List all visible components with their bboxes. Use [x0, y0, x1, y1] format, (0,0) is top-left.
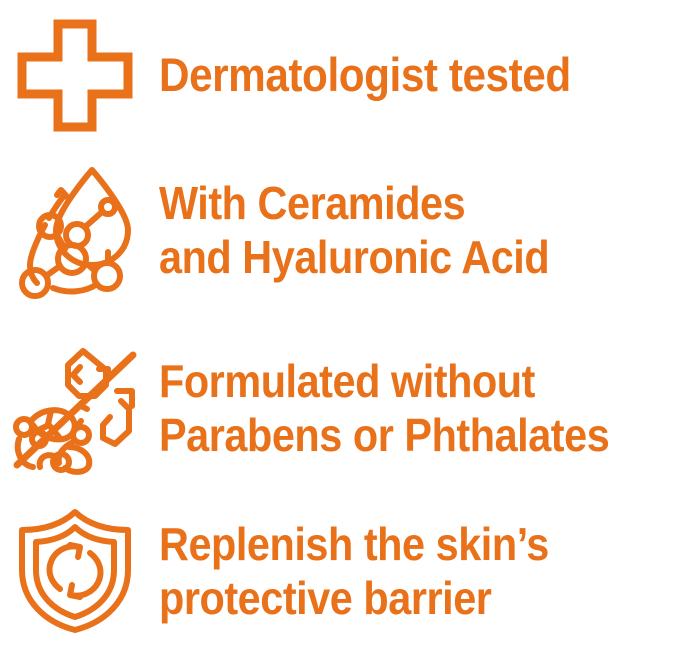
droplet-molecule-icon — [0, 164, 150, 296]
benefit-text-dermatologist-tested: Dermatologist tested — [150, 48, 626, 102]
benefit-row-ceramides-hyaluronic-acid: With Ceramides and Hyaluronic Acid — [0, 150, 679, 310]
shield-renew-icon — [0, 508, 150, 634]
benefit-text-ceramides-hyaluronic-acid: With Ceramides and Hyaluronic Acid — [150, 176, 626, 284]
benefit-row-no-parabens-phthalates: Formulated without Parabens or Phthalate… — [0, 330, 679, 485]
benefit-line: With Ceramides — [159, 176, 626, 230]
medical-cross-icon — [0, 19, 150, 132]
benefit-line: Formulated without — [159, 354, 626, 408]
benefit-line: Parabens or Phthalates — [159, 408, 626, 462]
benefit-line: protective barrier — [159, 571, 626, 625]
benefit-text-replenish-skin-barrier: Replenish the skin’s protective barrier — [150, 517, 626, 625]
no-chemicals-slash-icon — [0, 343, 150, 473]
benefit-line: and Hyaluronic Acid — [159, 230, 626, 284]
benefit-row-dermatologist-tested: Dermatologist tested — [0, 0, 679, 150]
benefit-line: Dermatologist tested — [159, 48, 626, 102]
benefit-row-replenish-skin-barrier: Replenish the skin’s protective barrier — [0, 495, 679, 646]
benefit-line: Replenish the skin’s — [159, 517, 626, 571]
benefits-panel: Dermatologist tested — [0, 0, 679, 646]
benefit-text-no-parabens-phthalates: Formulated without Parabens or Phthalate… — [150, 354, 626, 462]
